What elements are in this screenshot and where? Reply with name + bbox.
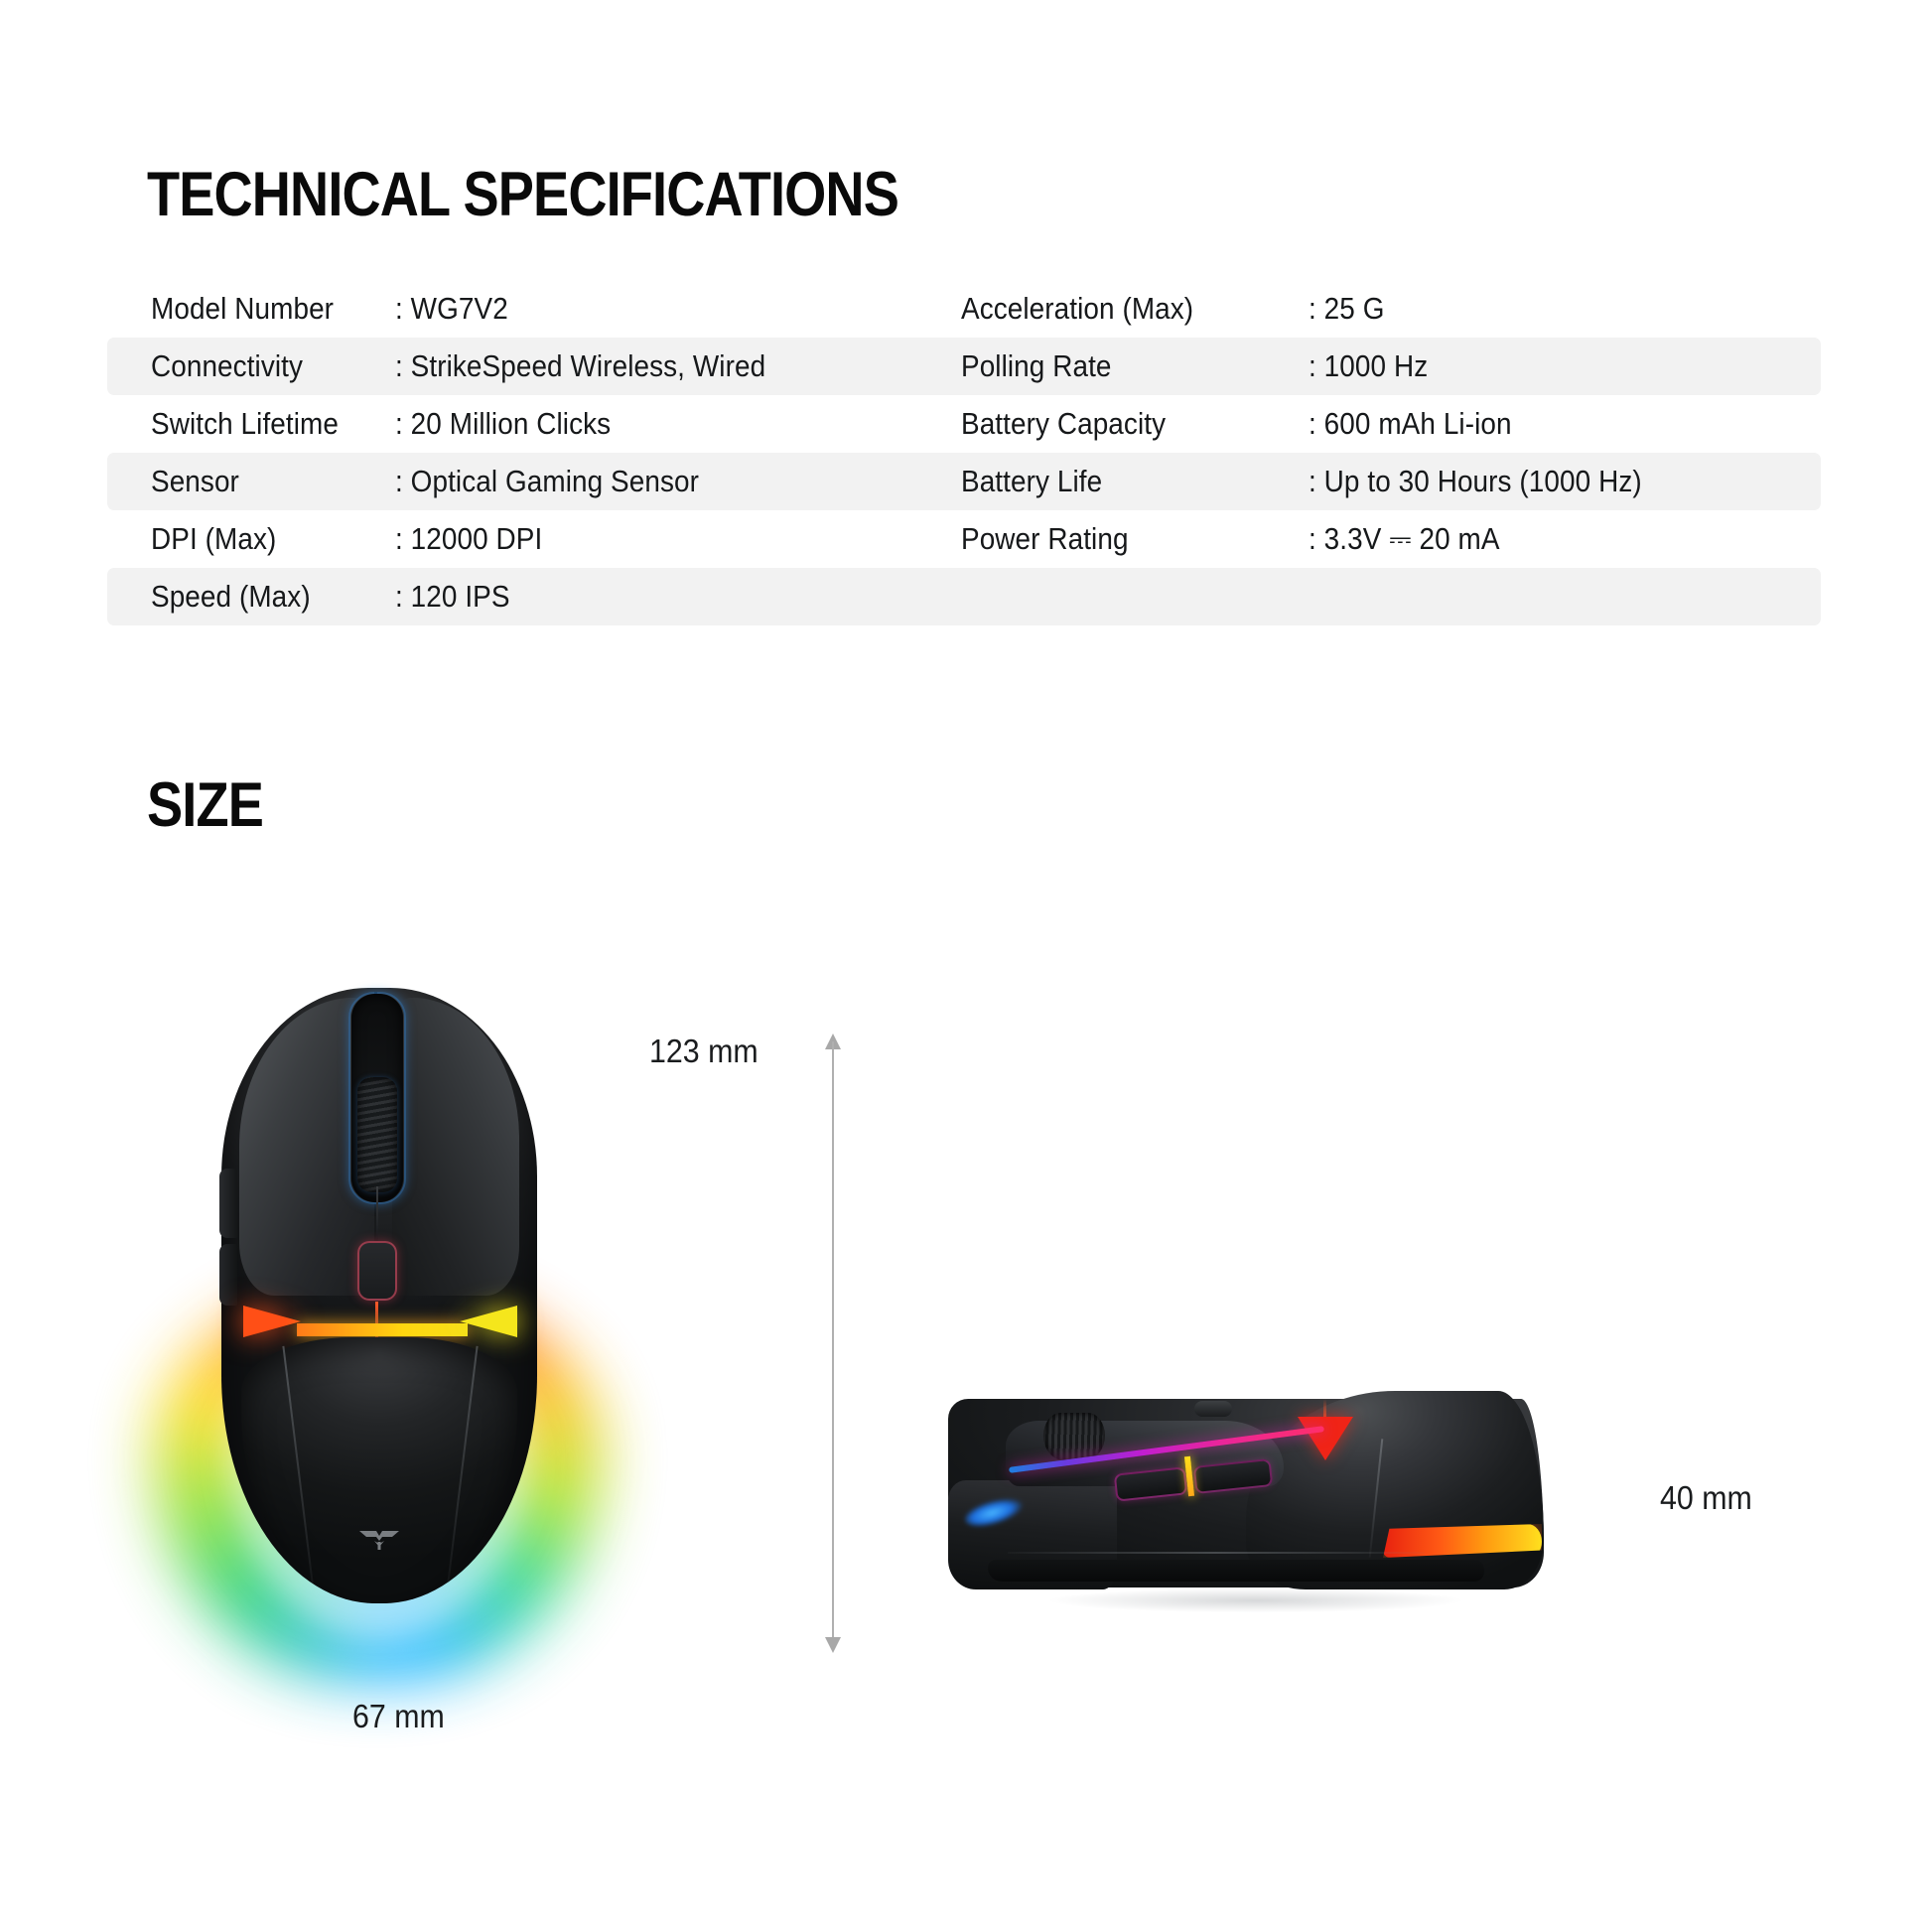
- dpi-button: [357, 1241, 397, 1301]
- side-button-back: [219, 1244, 237, 1306]
- spec-label-cell: Model Number: [107, 291, 395, 327]
- spec-label: Battery Capacity: [961, 406, 1166, 442]
- side-height-dimension-label: 40 mm: [1660, 1479, 1752, 1517]
- spec-label-cell: DPI (Max): [107, 521, 395, 557]
- scroll-wheel: [1043, 1413, 1105, 1460]
- spec-label-cell: Acceleration (Max): [961, 291, 1309, 327]
- height-dimension-arrow: [821, 1035, 845, 1651]
- spec-label: Switch Lifetime: [151, 406, 339, 442]
- arrow-head-down-icon: [825, 1637, 841, 1653]
- spec-value: : 3.3V ⎓ 20 mA: [1309, 521, 1500, 558]
- spec-label: DPI (Max): [151, 521, 276, 557]
- table-row: Speed (Max) : 120 IPS: [107, 568, 1821, 625]
- spec-label: Sensor: [151, 464, 239, 499]
- technical-specifications-heading: TECHNICAL SPECIFICATIONS: [147, 159, 898, 230]
- table-row: Sensor : Optical Gaming Sensor Battery L…: [107, 453, 1821, 510]
- spec-value: : 1000 Hz: [1309, 348, 1428, 384]
- fantech-logo: [356, 1524, 402, 1554]
- spec-value: : WG7V2: [395, 291, 508, 327]
- table-row: DPI (Max) : 12000 DPI Power Rating : 3.3…: [107, 510, 1821, 568]
- spec-label-cell: Battery Life: [961, 464, 1309, 499]
- gaming-mouse-top-view: [213, 988, 541, 1623]
- spec-value: : 25 G: [1309, 291, 1385, 327]
- rgb-center-line: [297, 1323, 468, 1336]
- scroll-wheel: [357, 1077, 397, 1192]
- spec-value-cell: : WG7V2: [395, 291, 961, 327]
- spec-value: : Up to 30 Hours (1000 Hz): [1309, 464, 1642, 499]
- spec-value: : 600 mAh Li-ion: [1309, 406, 1512, 442]
- height-dimension-label: 123 mm: [649, 1033, 759, 1070]
- spec-value-cell: : 25 G: [1309, 291, 1821, 327]
- gaming-mouse-side-view: [948, 1385, 1564, 1633]
- spec-value-cell: : 20 Million Clicks: [395, 406, 961, 442]
- spec-value-cell: : StrikeSpeed Wireless, Wired: [395, 348, 961, 384]
- right-click-button: [392, 998, 519, 1296]
- spec-label: Power Rating: [961, 521, 1129, 557]
- spec-value: : Optical Gaming Sensor: [395, 464, 699, 499]
- spec-value-cell: : 120 IPS: [395, 579, 961, 615]
- side-button-forward: [219, 1169, 237, 1238]
- arrow-shaft: [832, 1041, 834, 1645]
- spec-label-cell: Power Rating: [961, 521, 1309, 557]
- size-diagram: [0, 933, 1932, 1932]
- rgb-left-arrow: [243, 1306, 301, 1337]
- body-seam-line: [1008, 1552, 1425, 1554]
- mouse-top-body: [221, 988, 537, 1603]
- spec-label-cell: Switch Lifetime: [107, 406, 395, 442]
- table-row: Model Number : WG7V2 Acceleration (Max) …: [107, 280, 1821, 338]
- spec-value: : StrikeSpeed Wireless, Wired: [395, 348, 765, 384]
- spec-label-cell: Battery Capacity: [961, 406, 1309, 442]
- specifications-table: Model Number : WG7V2 Acceleration (Max) …: [107, 280, 1821, 625]
- wheel-stem-line: [376, 1186, 378, 1244]
- red-arrow-accent: [1298, 1417, 1353, 1460]
- spec-label-cell: Polling Rate: [961, 348, 1309, 384]
- spec-value-cell: : 600 mAh Li-ion: [1309, 406, 1821, 442]
- spec-label: Model Number: [151, 291, 334, 327]
- size-heading: SIZE: [147, 769, 263, 841]
- palm-rest: [241, 1337, 517, 1603]
- spec-value-cell: : Up to 30 Hours (1000 Hz): [1309, 464, 1821, 499]
- rgb-right-arrow: [460, 1306, 517, 1337]
- spec-label: Battery Life: [961, 464, 1102, 499]
- spec-label-cell: Speed (Max): [107, 579, 395, 615]
- spec-value-cell: : 1000 Hz: [1309, 348, 1821, 384]
- width-dimension-label: 67 mm: [352, 1698, 445, 1735]
- dpi-button: [1194, 1401, 1232, 1417]
- spec-label: Speed (Max): [151, 579, 311, 615]
- spec-value: : 12000 DPI: [395, 521, 542, 557]
- product-spec-page: TECHNICAL SPECIFICATIONS Model Number : …: [0, 0, 1932, 1932]
- spec-label-cell: Connectivity: [107, 348, 395, 384]
- spec-value-cell: : 12000 DPI: [395, 521, 961, 557]
- spec-label: Polling Rate: [961, 348, 1112, 384]
- spec-label: Connectivity: [151, 348, 303, 384]
- table-row: Connectivity : StrikeSpeed Wireless, Wir…: [107, 338, 1821, 395]
- spec-value-cell: : Optical Gaming Sensor: [395, 464, 961, 499]
- table-row: Switch Lifetime : 20 Million Clicks Batt…: [107, 395, 1821, 453]
- spec-value: : 20 Million Clicks: [395, 406, 611, 442]
- spec-value-cell: : 3.3V ⎓ 20 mA: [1309, 521, 1821, 558]
- spec-value: : 120 IPS: [395, 579, 510, 615]
- mouse-base: [988, 1560, 1484, 1582]
- spec-label-cell: Sensor: [107, 464, 395, 499]
- spec-label: Acceleration (Max): [961, 291, 1193, 327]
